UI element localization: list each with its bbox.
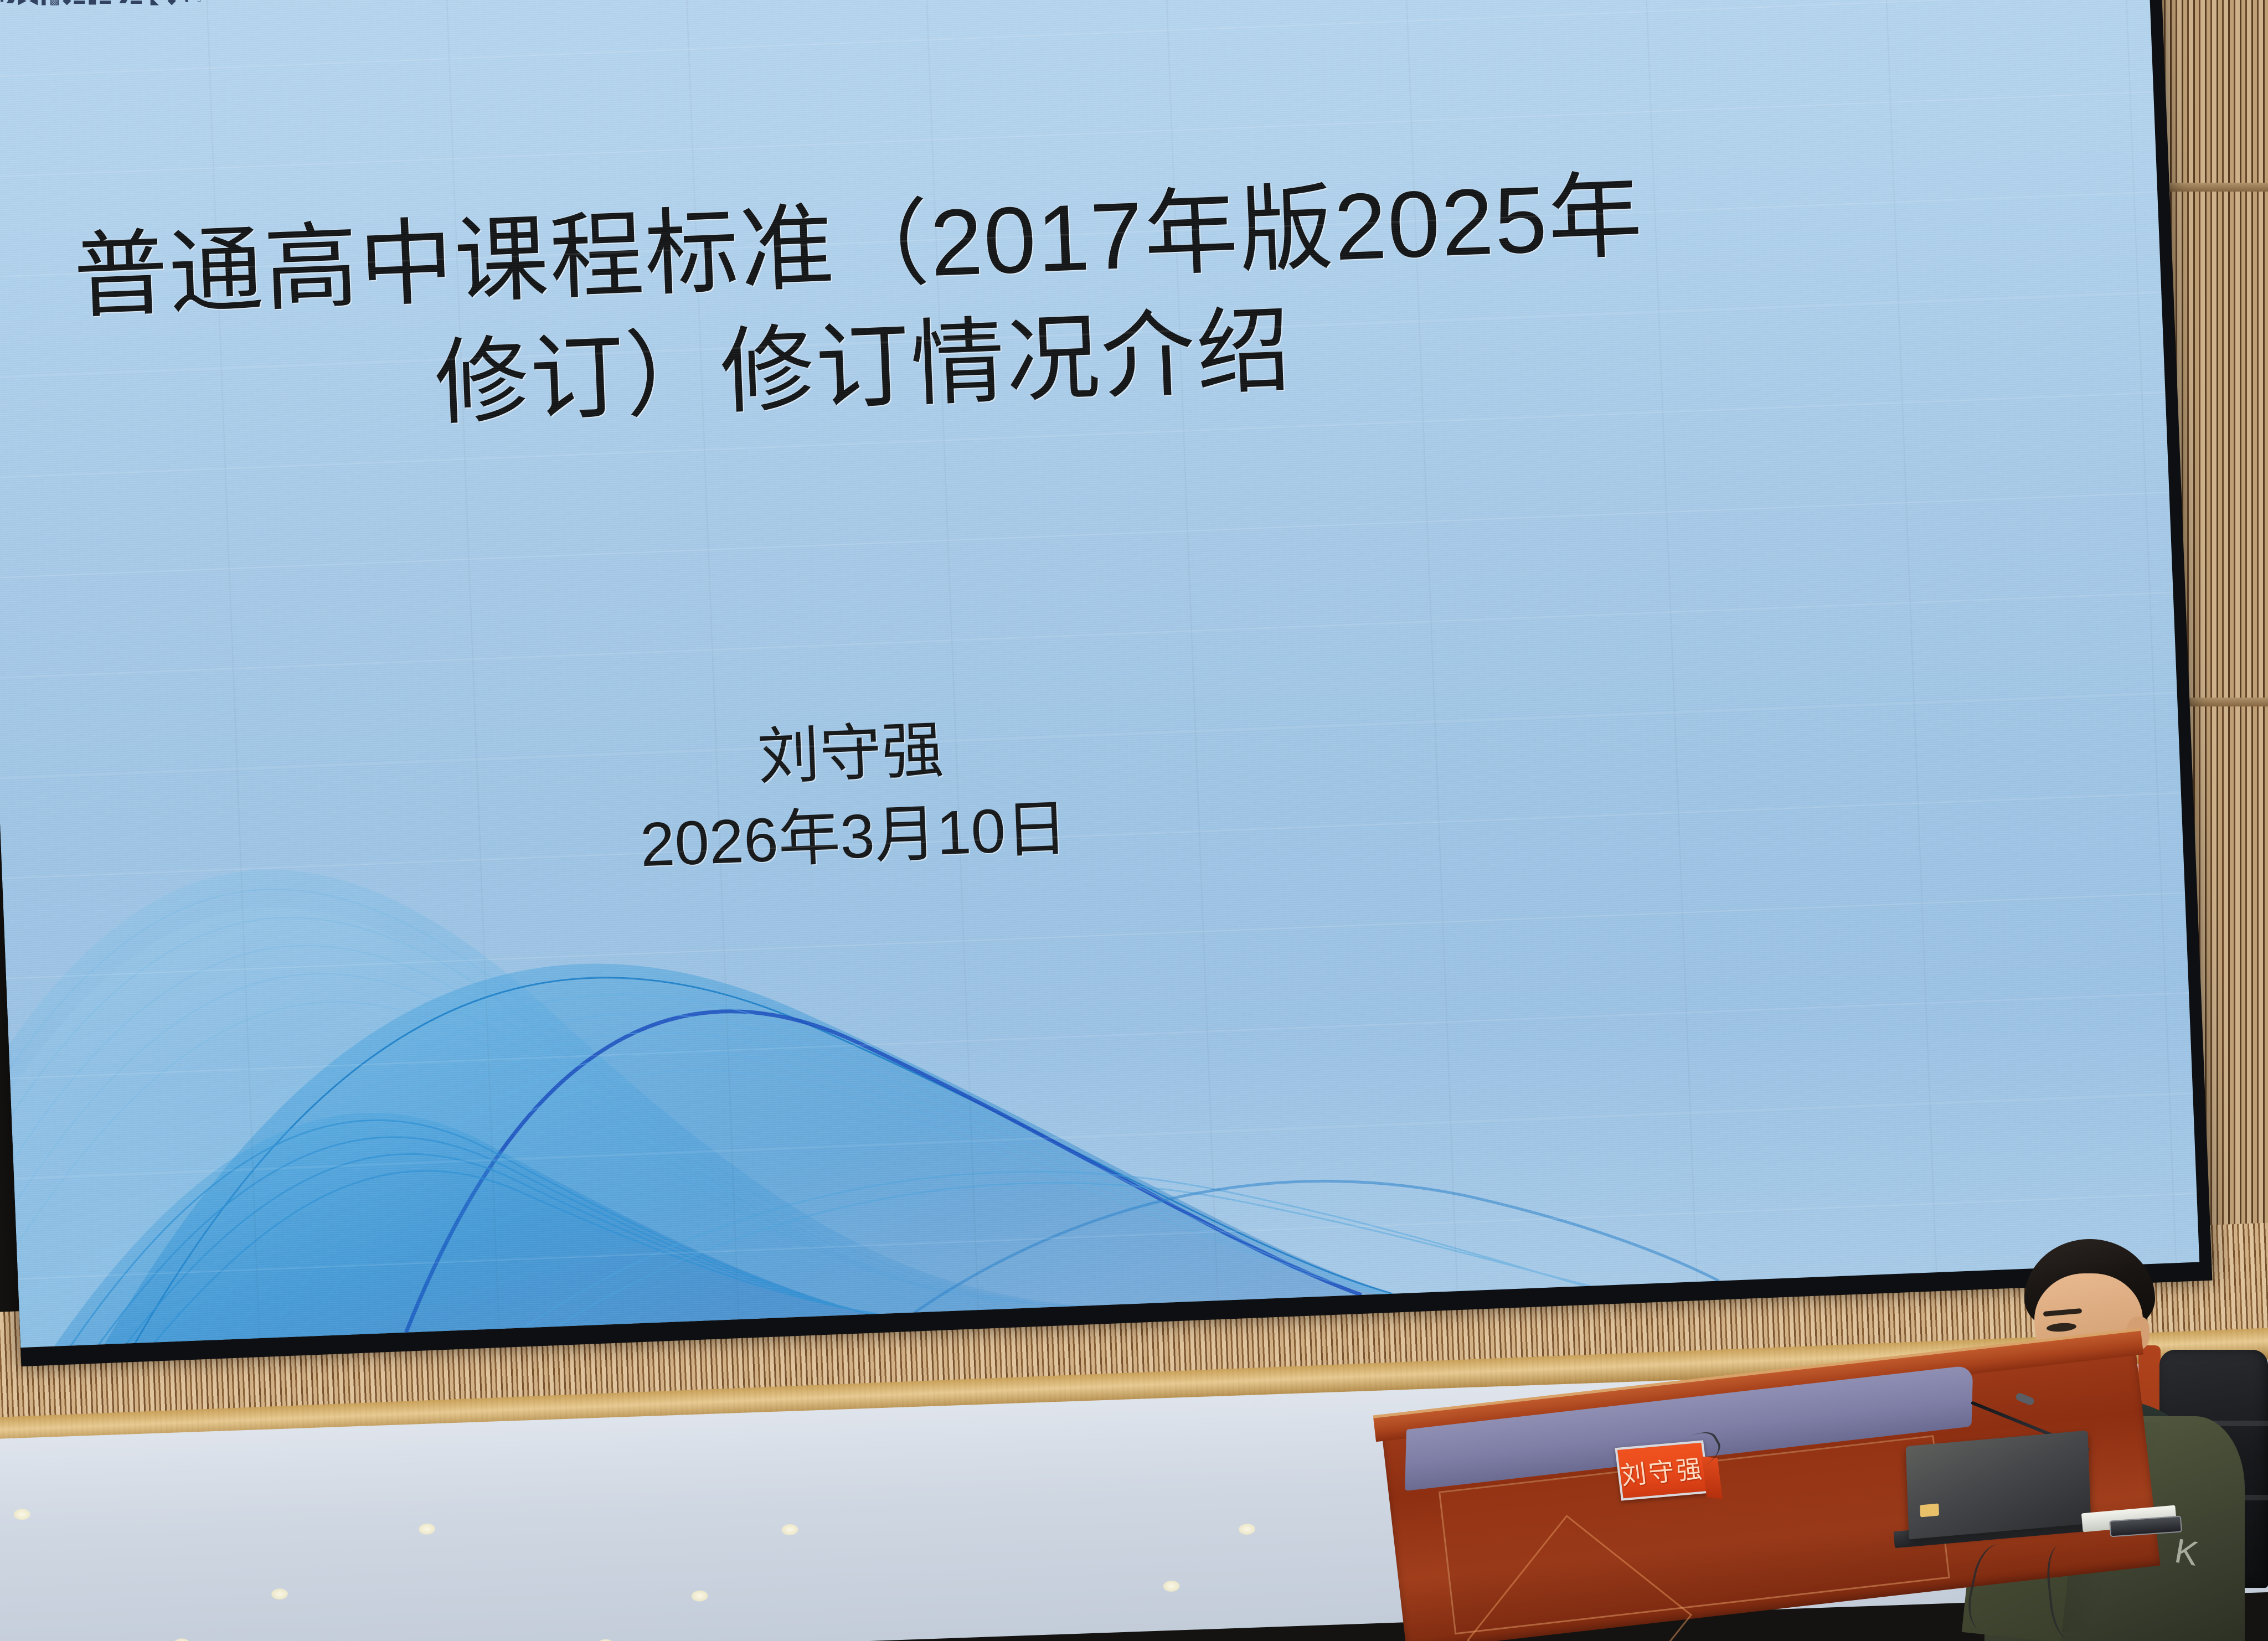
led-screen: 普通高中课程标准（2017年版2025年 修订）修订情况介绍 刘守强 2026年… — [0, 0, 2212, 1366]
presentation-scene: 普通高中课程标准（2017年版2025年 修订）修订情况介绍 刘守强 2026年… — [0, 0, 2268, 1641]
laptop-badge-icon — [1920, 1504, 1939, 1518]
slide-surface: 普通高中课程标准（2017年版2025年 修订）修订情况介绍 刘守强 2026年… — [0, 0, 2199, 1348]
slide-title: 普通高中课程标准（2017年版2025年 修订）修订情况介绍 — [0, 148, 1845, 466]
cropped-top-bar: ▪▰▶◀▮▩◆▬◼▬ ▰▬ ◣ ◆ ▪ ▫ — [0, 0, 2268, 8]
jacket-logo-icon: K — [2173, 1536, 2202, 1570]
laptop — [1906, 1431, 2091, 1540]
cropped-top-bar-text: ▪▰▶◀▮▩◆▬◼▬ ▰▬ ◣ ◆ ▪ ▫ — [0, 0, 204, 7]
